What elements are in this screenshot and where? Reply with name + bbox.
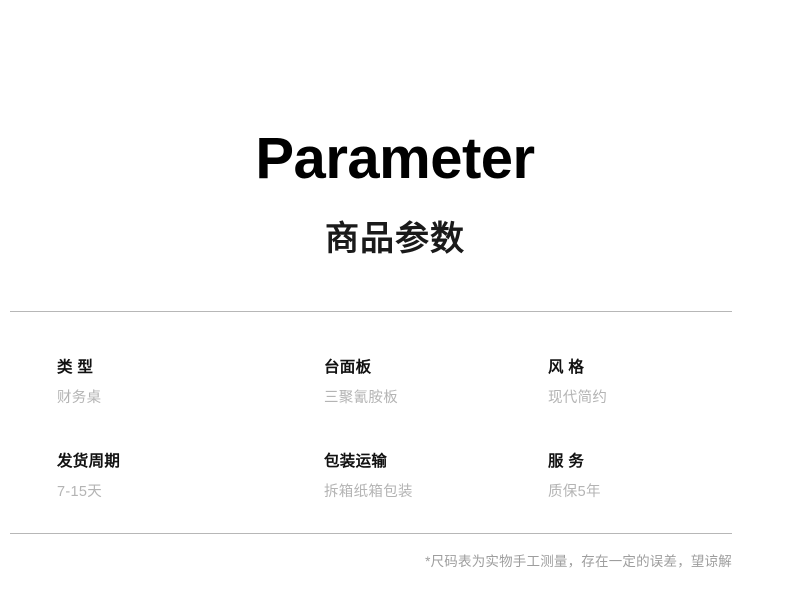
spec-item-delivery-period: 发货周期 7-15天 — [57, 452, 297, 502]
spec-item-type: 类 型 财务桌 — [57, 358, 297, 408]
parameter-page: Parameter 商品参数 类 型 财务桌 台面板 三聚氰胺板 风 格 现代简… — [0, 0, 790, 602]
spec-label: 风 格 — [548, 358, 788, 378]
divider-bottom — [10, 533, 732, 534]
spec-label: 类 型 — [57, 358, 297, 378]
spec-value: 现代简约 — [548, 389, 788, 408]
page-title-english: Parameter — [0, 128, 790, 190]
page-title-chinese: 商品参数 — [0, 219, 790, 259]
divider-top — [10, 311, 732, 312]
spec-value: 质保5年 — [548, 483, 788, 502]
specification-grid: 类 型 财务桌 台面板 三聚氰胺板 风 格 现代简约 发货周期 7-15天 包装… — [0, 340, 790, 520]
spec-item-style: 风 格 现代简约 — [548, 358, 788, 408]
spec-value: 三聚氰胺板 — [324, 389, 564, 408]
spec-label: 台面板 — [324, 358, 564, 378]
spec-item-packaging-shipping: 包装运输 拆箱纸箱包装 — [324, 452, 564, 502]
spec-item-service: 服 务 质保5年 — [548, 452, 788, 502]
spec-item-tabletop: 台面板 三聚氰胺板 — [324, 358, 564, 408]
spec-value: 财务桌 — [57, 389, 297, 408]
spec-value: 7-15天 — [57, 483, 297, 502]
spec-label: 服 务 — [548, 452, 788, 472]
measurement-disclaimer: *尺码表为实物手工测量，存在一定的误差，望谅解 — [10, 552, 732, 572]
spec-value: 拆箱纸箱包装 — [324, 483, 564, 502]
spec-label: 发货周期 — [57, 452, 297, 472]
spec-label: 包装运输 — [324, 452, 564, 472]
